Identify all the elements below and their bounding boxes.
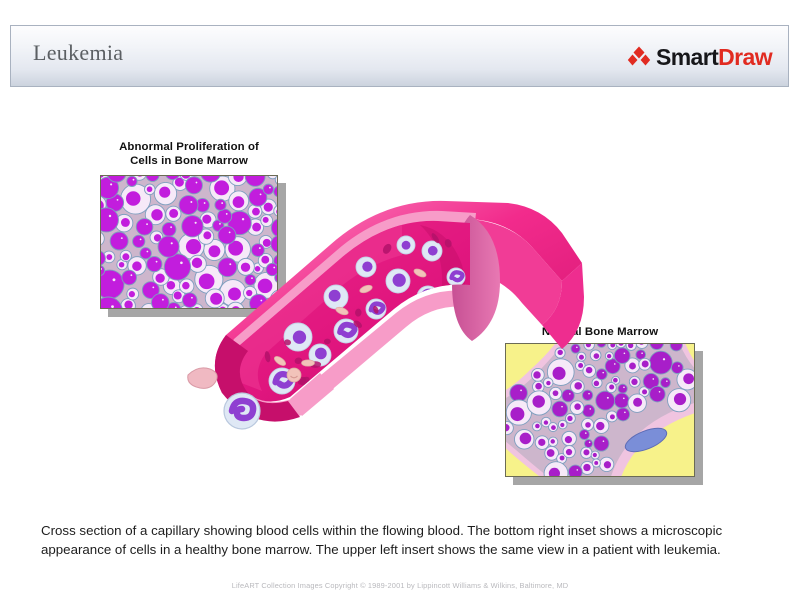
capillary-illustration: [170, 185, 600, 450]
logo-word-secondary: Draw: [718, 44, 772, 70]
abnormal-marrow-label-line2: Cells in Bone Marrow: [100, 154, 278, 168]
figure-caption: Cross section of a capillary showing blo…: [41, 522, 766, 559]
free-erythrocyte: [188, 368, 217, 389]
copyright-notice: LifeART Collection Images Copyright © 19…: [0, 581, 800, 590]
abnormal-marrow-label: Abnormal Proliferation of Cells in Bone …: [100, 140, 278, 168]
extravasating-leukocyte: [224, 393, 260, 429]
logo-wordmark: SmartDraw: [656, 46, 772, 69]
smartdraw-logo[interactable]: SmartDraw: [627, 42, 772, 72]
page-header: Leukemia SmartDraw: [10, 25, 789, 87]
abnormal-marrow-label-line1: Abnormal Proliferation of: [100, 140, 278, 154]
page-title: Leukemia: [33, 40, 123, 66]
smartdraw-diamond-icon: [627, 45, 651, 69]
logo-word-primary: Smart: [656, 44, 718, 70]
